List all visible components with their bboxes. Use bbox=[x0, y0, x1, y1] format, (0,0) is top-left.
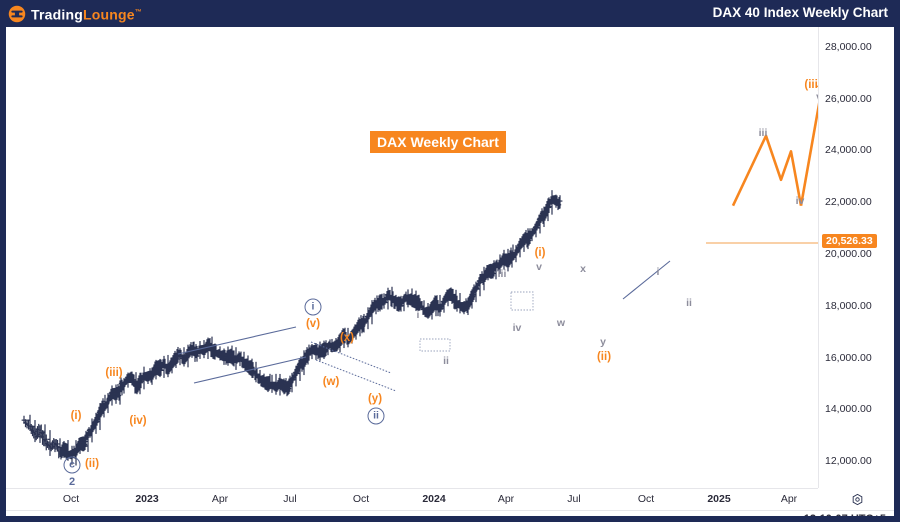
price-tick: 12,000.00 bbox=[825, 455, 872, 467]
time-axis[interactable]: Oct2023AprJulOct2024AprJulOct2025Apr bbox=[6, 488, 818, 511]
brand-logo-text: TradingLounge™ bbox=[31, 4, 142, 24]
chart-svg bbox=[6, 27, 818, 488]
forecast-projection-group bbox=[733, 76, 818, 205]
time-tick: Oct bbox=[353, 493, 369, 505]
time-tick: Apr bbox=[212, 493, 228, 505]
chart-frame: DAX Weekly Chart c2(ii)(i)(iii)(iv)i(v)(… bbox=[6, 27, 894, 516]
price-tick: 18,000.00 bbox=[825, 300, 872, 312]
chart-title-badge: DAX Weekly Chart bbox=[370, 131, 506, 153]
price-tick: 26,000.00 bbox=[825, 93, 872, 105]
time-tick: Apr bbox=[498, 493, 514, 505]
price-tick: 22,000.00 bbox=[825, 196, 872, 208]
time-tick: Oct bbox=[63, 493, 79, 505]
price-tick: 20,000.00 bbox=[825, 248, 872, 260]
brand-logo-primary: Trading bbox=[31, 6, 83, 22]
settings-target-icon bbox=[851, 493, 864, 506]
consolidation-box bbox=[420, 339, 450, 351]
time-tick: 2025 bbox=[707, 493, 730, 505]
falling-channel-lower bbox=[316, 360, 396, 391]
brand-logo[interactable]: TradingLounge™ bbox=[8, 3, 142, 24]
price-axis[interactable]: 28,000.0026,000.0024,000.0022,000.0020,0… bbox=[818, 27, 894, 488]
time-tick: Apr bbox=[781, 493, 797, 505]
time-tick: Oct bbox=[638, 493, 654, 505]
price-tick: 16,000.00 bbox=[825, 352, 872, 364]
channel-upper-line bbox=[178, 327, 296, 354]
app-header: TradingLounge™ DAX 40 Index Weekly Chart bbox=[0, 0, 900, 27]
brand-logo-secondary: Lounge bbox=[83, 6, 135, 22]
chart-application: TradingLounge™ DAX 40 Index Weekly Chart bbox=[0, 0, 900, 522]
page-title: DAX 40 Index Weekly Chart bbox=[713, 5, 888, 20]
forecast-arrow-shaft bbox=[801, 76, 818, 205]
price-tick: 14,000.00 bbox=[825, 403, 872, 415]
chart-plot-area[interactable] bbox=[6, 27, 818, 488]
forecast-polyline bbox=[733, 136, 801, 206]
axis-separator bbox=[6, 510, 894, 511]
falling-channel-upper bbox=[311, 342, 391, 373]
price-tick: 24,000.00 bbox=[825, 144, 872, 156]
brand-trademark: ™ bbox=[135, 9, 142, 16]
price-tick: 28,000.00 bbox=[825, 41, 872, 53]
time-tick: Jul bbox=[567, 493, 580, 505]
pullback-box bbox=[511, 292, 533, 310]
clock-label: 12:10:07 UTC+5 bbox=[804, 513, 886, 516]
rising-trendline bbox=[623, 261, 670, 299]
tradinglounge-logo-icon bbox=[8, 5, 26, 23]
current-price-badge: 20,526.33 bbox=[822, 234, 877, 248]
time-tick: 2023 bbox=[135, 493, 158, 505]
time-tick: 2024 bbox=[422, 493, 445, 505]
time-tick: Jul bbox=[283, 493, 296, 505]
axis-settings-button[interactable] bbox=[819, 488, 894, 510]
